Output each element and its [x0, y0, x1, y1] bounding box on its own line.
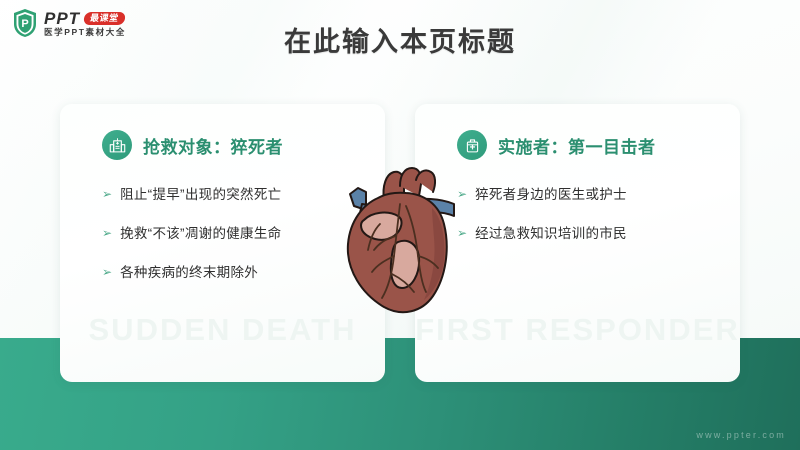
- card-header-left: 抢救对象：猝死者: [102, 130, 283, 160]
- arrow-bullet-icon: ➢: [102, 225, 112, 242]
- bullet-list-right: ➢ 猝死者身边的医生或护士 ➢ 经过急救知识培训的市民: [457, 186, 722, 264]
- slide-canvas: www.ppter.com P PPT 最课堂 医学PPT素材大全 在此输入本页…: [0, 0, 800, 450]
- anatomical-heart-illustration: [336, 164, 466, 319]
- list-item-label: 经过急救知识培训的市民: [475, 225, 627, 242]
- list-item: ➢ 各种疾病的终末期除外: [102, 264, 367, 281]
- list-item-label: 挽救“不该”凋谢的健康生命: [120, 225, 281, 242]
- footer-url: www.ppter.com: [696, 430, 786, 440]
- bullet-list-left: ➢ 阻止“提早”出现的突然死亡 ➢ 挽救“不该”凋谢的健康生命 ➢ 各种疾病的终…: [102, 186, 367, 303]
- medical-kit-icon: [457, 130, 487, 160]
- list-item-label: 各种疾病的终末期除外: [120, 264, 258, 281]
- arrow-bullet-icon: ➢: [102, 264, 112, 281]
- page-title: 在此输入本页标题: [0, 20, 800, 59]
- list-item: ➢ 挽救“不该”凋谢的健康生命: [102, 225, 367, 242]
- list-item: ➢ 经过急救知识培训的市民: [457, 225, 722, 242]
- list-item: ➢ 猝死者身边的医生或护士: [457, 186, 722, 203]
- card-title-left: 抢救对象：猝死者: [143, 133, 283, 158]
- list-item: ➢ 阻止“提早”出现的突然死亡: [102, 186, 367, 203]
- card-header-right: 实施者：第一目击者: [457, 130, 656, 160]
- arrow-bullet-icon: ➢: [102, 186, 112, 203]
- card-title-right: 实施者：第一目击者: [498, 133, 656, 158]
- hospital-icon: [102, 130, 132, 160]
- list-item-label: 阻止“提早”出现的突然死亡: [120, 186, 281, 203]
- list-item-label: 猝死者身边的医生或护士: [475, 186, 627, 203]
